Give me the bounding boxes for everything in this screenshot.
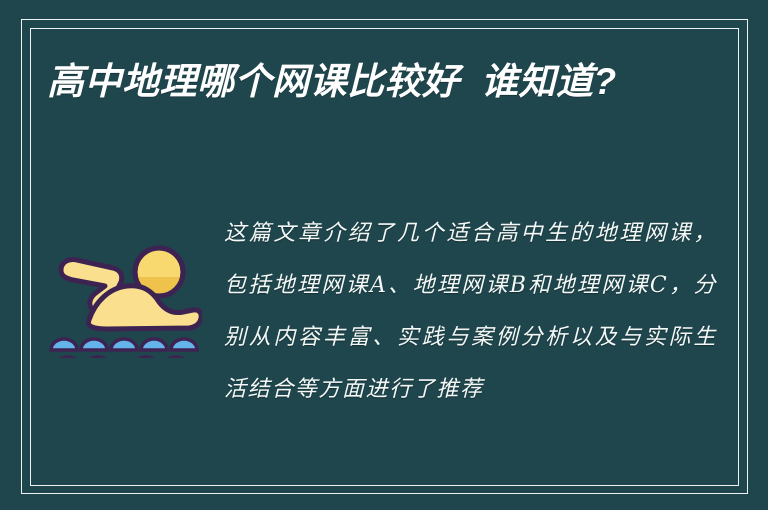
- content-row: 这篇文章介绍了几个适合高中生的地理网课，包括地理网课A、地理网课B和地理网课C，…: [47, 200, 717, 460]
- page-title: 高中地理哪个网课比较好 谁知道?: [47, 54, 707, 110]
- swimmer-icon: [47, 228, 202, 358]
- article-summary: 这篇文章介绍了几个适合高中生的地理网课，包括地理网课A、地理网课B和地理网课C，…: [224, 208, 717, 416]
- article-card: 高中地理哪个网课比较好 谁知道?: [0, 0, 768, 510]
